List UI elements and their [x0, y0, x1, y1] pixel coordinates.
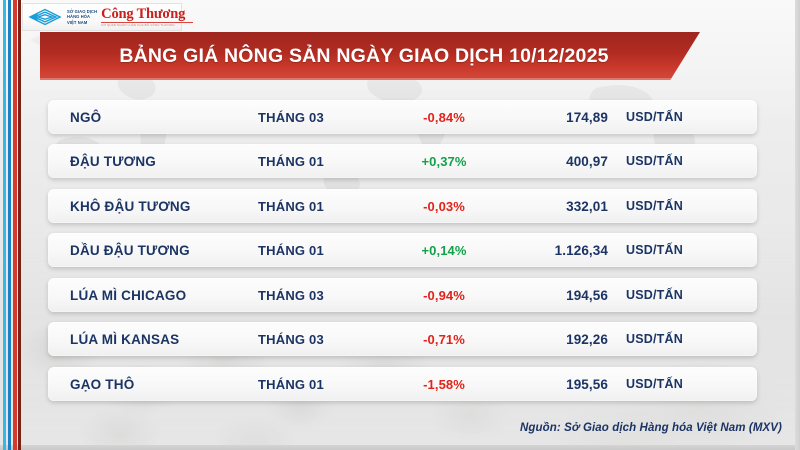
cell-unit: USD/TẤN — [626, 288, 683, 302]
cell-change-percent: -0,03% — [396, 199, 492, 214]
cell-contract-month: THÁNG 03 — [258, 288, 324, 303]
mxv-diamond-logo-icon — [27, 7, 63, 27]
cell-contract-month: THÁNG 01 — [258, 243, 324, 258]
mxv-name-block: SỞ GIAO DỊCH HÀNG HÓA VIỆT NAM — [67, 9, 97, 25]
cell-commodity: ĐẬU TƯƠNG — [70, 154, 156, 169]
cell-price: 1.126,34 — [500, 243, 608, 258]
mxv-line-3: VIỆT NAM — [67, 20, 97, 25]
left-accent-stripes — [0, 0, 22, 450]
cell-commodity: DẦU ĐẬU TƯƠNG — [70, 243, 190, 258]
cell-price: 194,56 — [500, 288, 608, 303]
cell-change-percent: -0,84% — [396, 110, 492, 125]
stripe-dark-red — [18, 0, 21, 450]
page-title: BẢNG GIÁ NÔNG SẢN NGÀY GIAO DỊCH 10/12/2… — [119, 45, 608, 68]
table-row: NGÔTHÁNG 03-0,84%174,89USD/TẤN — [48, 100, 757, 134]
stripe-blue — [8, 0, 11, 450]
cell-contract-month: THÁNG 03 — [258, 332, 324, 347]
cell-unit: USD/TẤN — [626, 199, 683, 213]
cell-contract-month: THÁNG 01 — [258, 154, 324, 169]
cell-change-percent: +0,37% — [396, 154, 492, 169]
cell-change-percent: -0,71% — [396, 332, 492, 347]
price-board-infographic: SỞ GIAO DỊCH HÀNG HÓA VIỆT NAM Công Thươ… — [0, 0, 800, 450]
title-banner: BẢNG GIÁ NÔNG SẢN NGÀY GIAO DỊCH 10/12/2… — [40, 32, 700, 80]
cell-change-percent: -1,58% — [396, 377, 492, 392]
table-row: GẠO THÔTHÁNG 01-1,58%195,56USD/TẤN — [48, 367, 757, 401]
cell-unit: USD/TẤN — [626, 243, 683, 257]
table-row: LÚA MÌ KANSASTHÁNG 03-0,71%192,26USD/TẤN — [48, 322, 757, 356]
publisher-name: Công Thương — [101, 7, 193, 22]
table-row: KHÔ ĐẬU TƯƠNGTHÁNG 01-0,03%332,01USD/TẤN — [48, 189, 757, 223]
table-row: ĐẬU TƯƠNGTHÁNG 01+0,37%400,97USD/TẤN — [48, 144, 757, 178]
table-row: LÚA MÌ CHICAGOTHÁNG 03-0,94%194,56USD/TẤ… — [48, 278, 757, 312]
source-note: Nguồn: Sở Giao dịch Hàng hóa Việt Nam (M… — [520, 422, 782, 434]
table-row: DẦU ĐẬU TƯƠNGTHÁNG 01+0,14%1.126,34USD/T… — [48, 233, 757, 267]
cell-unit: USD/TẤN — [626, 377, 683, 391]
cell-commodity: KHÔ ĐẬU TƯƠNG — [70, 199, 191, 214]
cell-change-percent: -0,94% — [396, 288, 492, 303]
cell-unit: USD/TẤN — [626, 154, 683, 168]
publisher-tagline: CƠ QUAN NGÔN LUẬN CỦA BỘ CÔNG THƯƠNG — [101, 24, 193, 27]
cell-commodity: NGÔ — [70, 110, 101, 125]
stripe-red — [13, 0, 17, 450]
brand-logo-band: SỞ GIAO DỊCH HÀNG HÓA VIỆT NAM Công Thươ… — [22, 3, 182, 31]
cell-contract-month: THÁNG 01 — [258, 377, 324, 392]
cong-thuong-logo: Công Thương CƠ QUAN NGÔN LUẬN CỦA BỘ CÔN… — [101, 7, 193, 28]
cell-price: 192,26 — [500, 332, 608, 347]
cell-commodity: GẠO THÔ — [70, 377, 134, 392]
cell-commodity: LÚA MÌ CHICAGO — [70, 288, 186, 303]
cell-price: 174,89 — [500, 110, 608, 125]
cell-contract-month: THÁNG 03 — [258, 110, 324, 125]
cell-change-percent: +0,14% — [396, 243, 492, 258]
stripe-cyan — [3, 0, 6, 450]
cell-price: 332,01 — [500, 199, 608, 214]
cell-contract-month: THÁNG 01 — [258, 199, 324, 214]
cell-unit: USD/TẤN — [626, 332, 683, 346]
cell-commodity: LÚA MÌ KANSAS — [70, 332, 179, 347]
cell-unit: USD/TẤN — [626, 110, 683, 124]
cell-price: 400,97 — [500, 154, 608, 169]
cell-price: 195,56 — [500, 377, 608, 392]
